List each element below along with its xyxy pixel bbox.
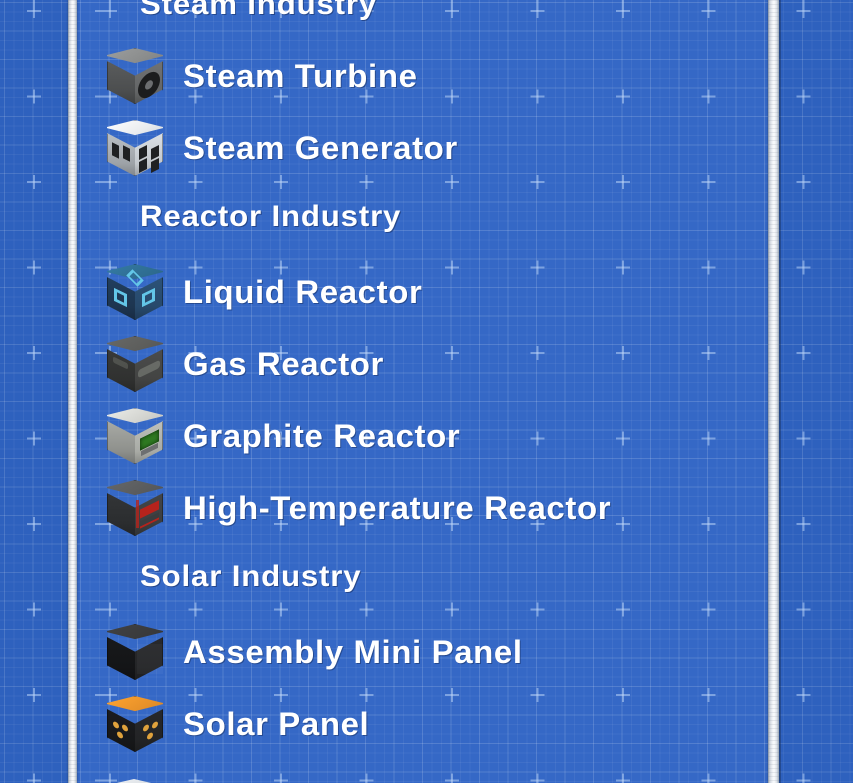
assembly-mini-panel-block-icon[interactable]: [105, 621, 167, 683]
category-header-reactor-industry: Reactor Industry: [140, 200, 401, 234]
solar-panel-block-icon-cube: [107, 696, 163, 752]
category-header-steam-industry: Steam Industry: [140, 0, 377, 22]
list-item[interactable]: Gas Reactor: [76, 328, 768, 400]
high-temperature-reactor-block-icon-right-face: [135, 493, 163, 536]
guidebook-screen: Steam IndustrySteam TurbineSteam Generat…: [0, 0, 853, 783]
right-divider-seam: [779, 0, 781, 783]
liquid-reactor-block-icon-cube: [107, 264, 163, 320]
solar-panel-block-icon-left-face: [107, 709, 135, 752]
gas-reactor-block-icon-left-face: [107, 349, 135, 392]
solar-panel-block-icon[interactable]: [105, 693, 167, 755]
left-divider-rule: [68, 0, 77, 783]
liquid-reactor-block-icon[interactable]: [105, 261, 167, 323]
assembly-mini-panel-block-icon-cube: [107, 624, 163, 680]
flat-solar-panel-block-icon-body: [105, 779, 163, 783]
list-item-label: Liquid Reactor: [183, 274, 422, 311]
list-item[interactable]: Graphite Reactor: [76, 400, 768, 472]
steam-generator-block-icon[interactable]: [105, 117, 167, 179]
list-item-label: High-Temperature Reactor: [183, 490, 611, 527]
high-temperature-reactor-block-icon[interactable]: [105, 477, 167, 539]
gas-reactor-block-icon-right-face: [135, 349, 163, 392]
category-header-solar-industry: Solar Industry: [140, 560, 361, 594]
steam-generator-block-icon-left-face: [107, 133, 135, 176]
list-item[interactable]: Steam Generator: [76, 112, 768, 184]
gas-reactor-block-icon-cube: [107, 336, 163, 392]
gas-reactor-block-icon[interactable]: [105, 333, 167, 395]
right-divider-rule: [768, 0, 779, 783]
list-item-label: Steam Turbine: [183, 58, 418, 95]
assembly-mini-panel-block-icon-right-face: [135, 637, 163, 680]
high-temperature-reactor-block-icon-cube: [107, 480, 163, 536]
list-item-label: Assembly Mini Panel: [183, 634, 523, 671]
steam-generator-block-icon-right-face: [135, 133, 163, 176]
graphite-reactor-block-icon-cube: [107, 408, 163, 464]
graphite-reactor-block-icon-left-face: [107, 421, 135, 464]
list-item[interactable]: Solar Panel: [76, 688, 768, 760]
solar-panel-block-icon-right-face: [135, 709, 163, 752]
list-item[interactable]: [76, 760, 768, 783]
list-item[interactable]: Assembly Mini Panel: [76, 616, 768, 688]
list-item-label: Solar Panel: [183, 706, 369, 743]
assembly-mini-panel-block-icon-left-face: [107, 637, 135, 680]
flat-solar-panel-block-icon[interactable]: [105, 765, 167, 783]
list-item[interactable]: High-Temperature Reactor: [76, 472, 768, 544]
list-item-label: Steam Generator: [183, 130, 458, 167]
flat-solar-panel-block-icon-top-face: [105, 779, 163, 783]
graphite-reactor-block-icon[interactable]: [105, 405, 167, 467]
steam-generator-block-icon-cube: [107, 120, 163, 176]
graphite-reactor-block-icon-right-face: [135, 421, 163, 464]
high-temperature-reactor-block-icon-left-face: [107, 493, 135, 536]
category-list-panel[interactable]: Steam IndustrySteam TurbineSteam Generat…: [76, 0, 768, 783]
steam-turbine-block-icon[interactable]: [105, 45, 167, 107]
steam-turbine-block-icon-right-face: [135, 61, 163, 104]
list-item-label: Gas Reactor: [183, 346, 384, 383]
list-item-label: Graphite Reactor: [183, 418, 460, 455]
list-item[interactable]: Steam Turbine: [76, 40, 768, 112]
liquid-reactor-block-icon-right-face: [135, 277, 163, 320]
steam-turbine-block-icon-cube: [107, 48, 163, 104]
steam-turbine-block-icon-left-face: [107, 61, 135, 104]
liquid-reactor-block-icon-left-face: [107, 277, 135, 320]
list-item[interactable]: Liquid Reactor: [76, 256, 768, 328]
